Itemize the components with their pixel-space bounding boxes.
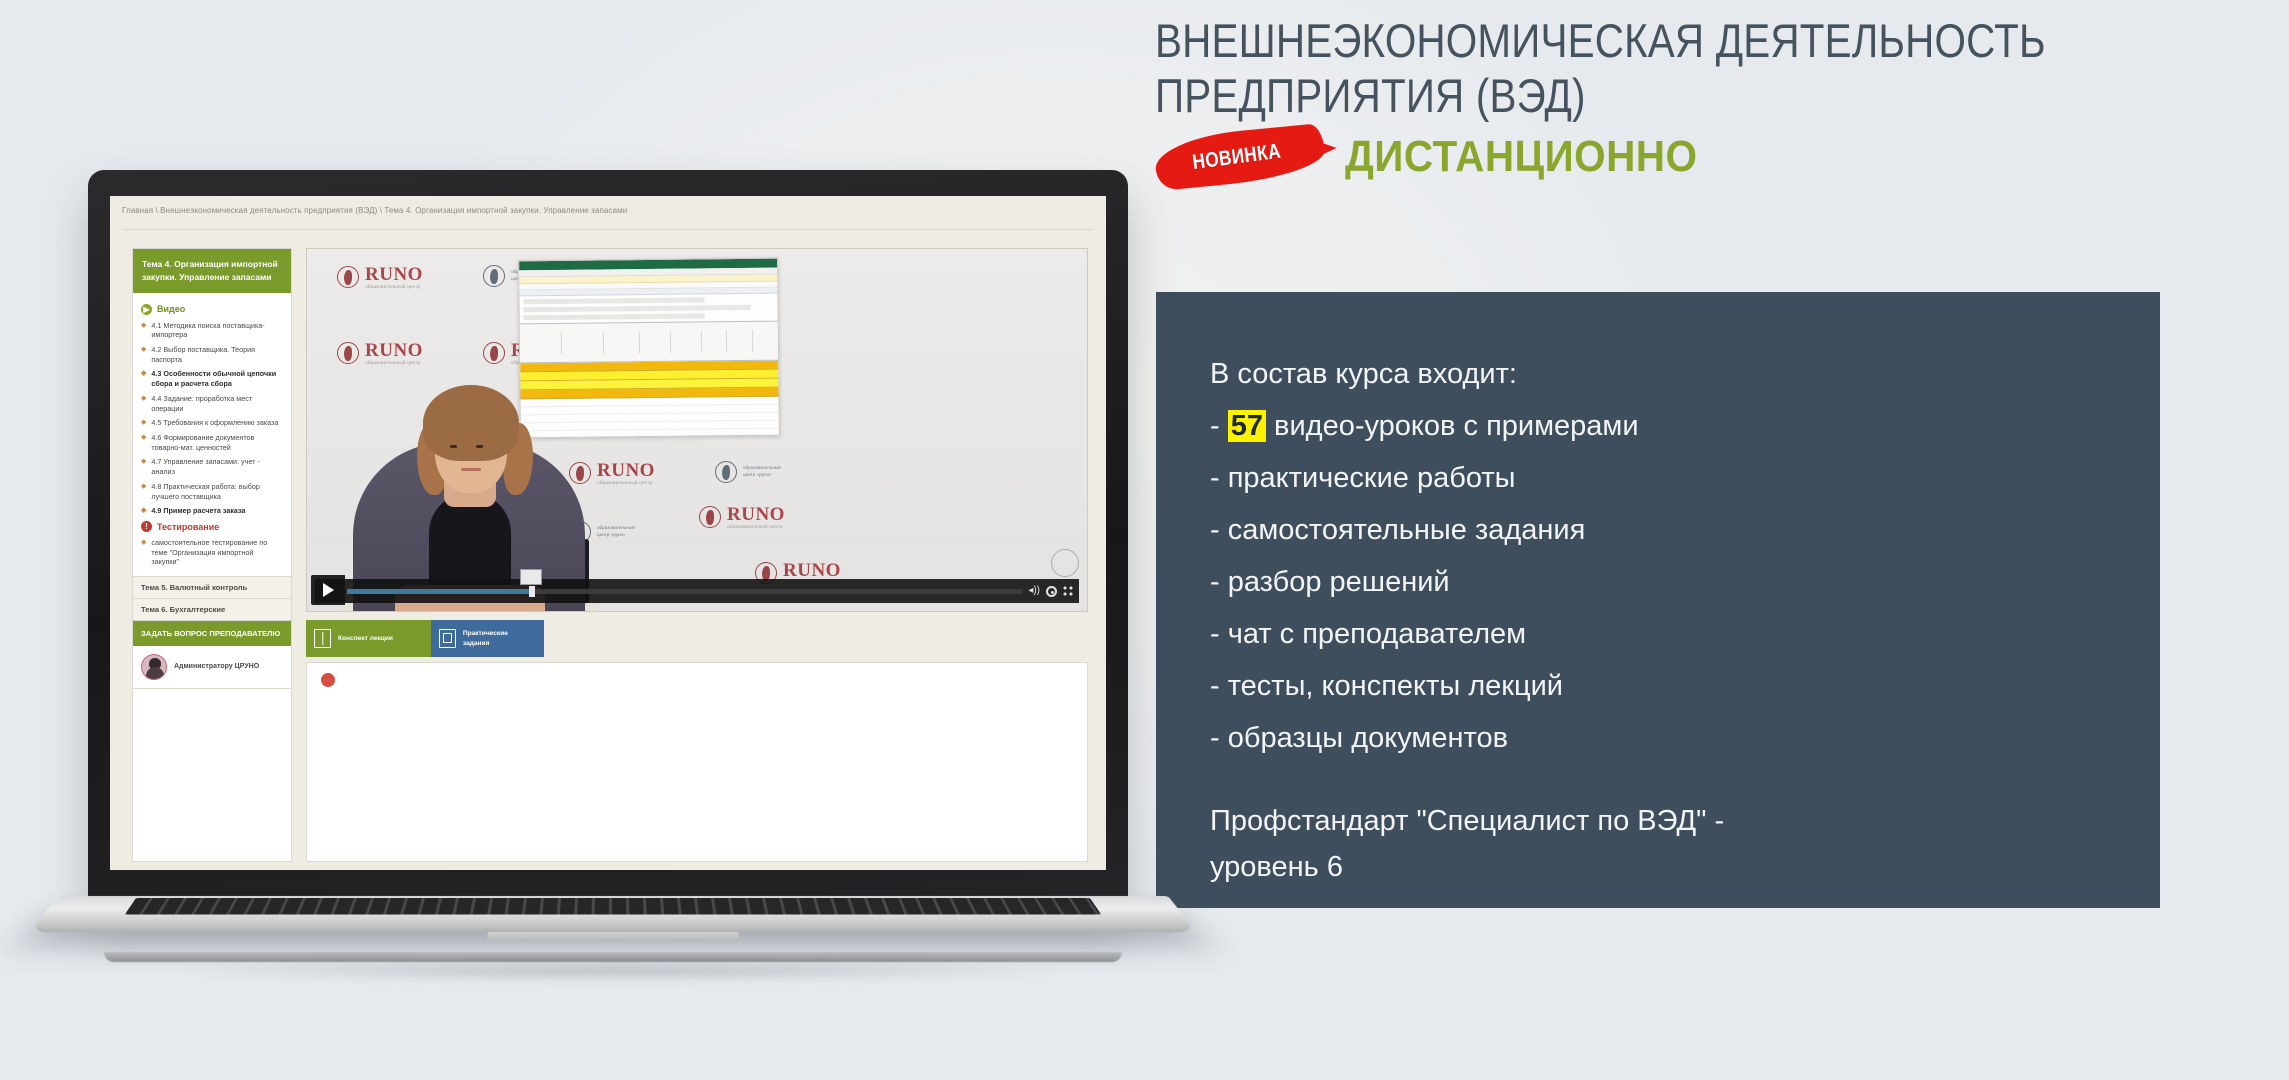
course-contents-panel: В состав курса входит: - 57 видео-уроков… [1156,292,2160,908]
center-wordmark: образовательный центр «руно» [597,525,635,539]
bullet-icon: ◆ [141,457,146,476]
center-line-2: центр «руно» [597,532,626,537]
sidebar-item-lesson[interactable]: ◆4.1 Методика поиска поставщика-импортер… [141,321,283,340]
spreadsheet-note [523,297,704,304]
presenter-hair [423,385,519,461]
alert-circle-icon: ! [141,521,152,532]
bullet-icon: ◆ [141,418,146,428]
player-control-bar[interactable]: ◂)) [315,579,1079,603]
sidebar-section-label: Тестирование [157,522,219,532]
laptop-shadow [168,962,1068,980]
book-icon [314,629,331,648]
laptop-screen: Главная \ Внешнеэкономическая деятельнос… [110,196,1106,870]
item-text: видео-уроков с примерами [1266,410,1639,442]
runo-wordmark: RUNO образовательный центр [727,505,785,530]
runo-emblem-icon [699,506,721,528]
item-dash: - [1210,618,1228,650]
lesson-label: 4.1 Методика поиска поставщика-импортера [151,321,283,340]
bullet-icon: ◆ [141,482,146,501]
item-text: тесты, конспекты лекций [1228,670,1563,702]
center-wordmark: образовательный центр «руно» [743,465,781,479]
item-text: самостоятельные задания [1228,514,1586,546]
lesson-label: 4.4 Задание: проработка мест операции [151,394,283,413]
bullet-icon: ◆ [141,394,146,413]
runo-brand: RUNO [597,460,655,481]
lesson-label: 4.3 Особенности обычной цепочки сбора и … [151,369,283,388]
lesson-label: 4.7 Управление запасами: учет - анализ [151,457,283,476]
lesson-label: 4.9 Пример расчета заказа [151,506,245,516]
bullet-icon: ◆ [141,433,146,452]
laptop-trackpad [487,932,740,939]
lesson-label: 4.5 Требования к оформлению заказа [151,418,278,428]
sidebar-item-lesson[interactable]: ◆4.9 Пример расчета заказа [141,506,283,516]
sidebar-section-video[interactable]: ▶ Видео [141,304,283,315]
delivery-mode-label: ДИСТАНЦИОННО [1345,132,1697,182]
document-icon [439,629,456,648]
tab-lecture-notes[interactable]: Конспект лекции [306,620,431,657]
runo-brand-sub: образовательный центр [727,525,785,530]
runo-wordmark: RUNO образовательный центр [597,461,655,486]
item-dash: - [1210,566,1228,598]
panel-spacer [1210,764,2106,798]
item-dash: - [1210,462,1228,494]
new-badge: НОВИНКА [1153,123,1327,191]
play-circle-icon: ▶ [141,304,152,315]
bullet-icon: ◆ [141,506,146,516]
contents-item: - 57 видео-уроков с примерами [1210,400,2106,452]
progress-bar[interactable] [347,589,1022,594]
ask-teacher-box: ЗАДАТЬ ВОПРОС ПРЕПОДАВАТЕЛЮ Администрато… [132,620,292,689]
contents-heading: В состав курса входит: [1210,348,2106,400]
laptop-base [58,896,1168,974]
pdf-icon[interactable] [321,673,335,687]
presenter-mouth [461,468,481,471]
contents-item: - образцы документов [1210,712,2106,764]
sidebar-body: ▶ Видео ◆4.1 Методика поиска поставщика-… [133,293,291,577]
sidebar-item-lesson[interactable]: ◆4.8 Практическая работа: выбор лучшего … [141,482,283,501]
sidebar-item-lesson[interactable]: ◆4.7 Управление запасами: учет - анализ [141,457,283,476]
badge-brush-tail [1311,139,1337,160]
item-text: образцы документов [1228,722,1508,754]
tab-content-panel [306,662,1088,862]
course-sidebar: Тема 4. Организация импортной закупки. У… [132,248,292,862]
laptop-mockup: Главная \ Внешнеэкономическая деятельнос… [58,170,1168,1000]
promo-subrow: НОВИНКА ДИСТАНЦИОННО [1155,129,2280,185]
bullet-icon: ◆ [141,369,146,388]
item-text: практические работы [1228,462,1516,494]
ask-teacher-body[interactable]: Администратору ЦРУНО [133,646,291,688]
new-badge-label: НОВИНКА [1168,122,1313,192]
presenter-figure [343,321,595,611]
runo-brand: RUNO [727,504,785,525]
breadcrumb: Главная \ Внешнеэкономическая деятельнос… [122,206,1094,230]
spreadsheet-column-headers [519,288,777,297]
sidebar-section-label: Видео [157,304,185,314]
promo-header: ВНЕШНЕЭКОНОМИЧЕСКАЯ ДЕЯТЕЛЬНОСТЬ ПРЕДПРИ… [1155,14,2280,185]
contents-item: - разбор решений [1210,556,2106,608]
play-button[interactable] [311,575,345,605]
tab-label: Конспект лекции [338,634,393,643]
lesson-label: 4.2 Выбор поставщика. Теория паспорта [151,345,283,364]
contents-item: - самостоятельные задания [1210,504,2106,556]
profstandard-note: Профстандарт "Специалист по ВЭД" - урове… [1210,798,2106,890]
page-title: ВНЕШНЕЭКОНОМИЧЕСКАЯ ДЕЯТЕЛЬНОСТЬ ПРЕДПРИ… [1155,14,2123,123]
item-dash: - [1210,670,1228,702]
sidebar-item-lesson[interactable]: ◆4.3 Особенности обычной цепочки сбора и… [141,369,283,388]
content-tabs: Конспект лекции Практические задания [306,620,544,657]
contents-item: - чат с преподавателем [1210,608,2106,660]
sidebar-item-lesson[interactable]: ◆4.6 Формирование документов товарно-мат… [141,433,283,452]
progress-fill [347,589,529,594]
tab-practice-tasks[interactable]: Практические задания [431,620,544,657]
item-dash: - [1210,514,1228,546]
contents-item: - тесты, конспекты лекций [1210,660,2106,712]
volume-icon[interactable]: ◂)) [1028,586,1040,596]
progress-handle[interactable] [529,586,535,597]
sidebar-item-test[interactable]: ◆самостоятельное тестирование по теме "О… [141,538,283,567]
presenter-eye [450,445,457,448]
bullet-icon: ◆ [141,321,146,340]
runo-emblem-icon [337,266,359,288]
bullet-icon: ◆ [141,538,146,567]
center-logo: образовательный центр «руно» [715,461,781,483]
spreadsheet-note [524,313,705,320]
item-text: чат с преподавателем [1228,618,1526,650]
avatar [141,654,167,680]
sidebar-item-lesson[interactable]: ◆4.4 Задание: проработка мест операции [141,394,283,413]
center-emblem-icon [715,461,737,483]
sidebar-item-lesson[interactable]: ◆4.5 Требования к оформлению заказа [141,418,283,428]
sidebar-item-topic5[interactable]: Тема 5. Валютный контроль [133,576,291,598]
laptop-lid: Главная \ Внешнеэкономическая деятельнос… [88,170,1128,904]
lesson-label: 4.8 Практическая работа: выбор лучшего п… [151,482,283,501]
test-label: самостоятельное тестирование по теме "Ор… [151,538,283,567]
video-player[interactable]: RUNO образовательный центр образовательн… [306,248,1088,612]
sidebar-item-topic6[interactable]: Тема 6. Бухгалтерские [133,598,291,620]
sidebar-header: Тема 4. Организация импортной закупки. У… [133,249,291,293]
presenter-eye [476,445,483,448]
spreadsheet-note [524,305,751,312]
runo-brand: RUNO [365,264,423,285]
lesson-label: 4.6 Формирование документов товарно-мат.… [151,433,283,452]
runo-logo: RUNO образовательный центр [699,505,785,530]
center-line-1: образовательный [743,465,781,470]
runo-logo: RUNO образовательный центр [337,265,423,290]
play-icon [323,583,334,597]
contents-item: - практические работы [1210,452,2106,504]
center-emblem-icon [483,265,505,287]
lesson-count: 57 [1228,410,1266,442]
center-line-2: центр «руно» [743,472,772,477]
item-dash: - [1210,410,1228,442]
ask-teacher-header: ЗАДАТЬ ВОПРОС ПРЕПОДАВАТЕЛЮ [133,621,291,646]
laptop-keyboard [125,898,1101,914]
grid-icon[interactable] [1063,586,1073,596]
runo-brand-sub: образовательный центр [597,481,655,486]
sidebar-item-lesson[interactable]: ◆4.2 Выбор поставщика. Теория паспорта [141,345,283,364]
tab-label: Практические задания [463,629,536,647]
sidebar-section-testing[interactable]: ! Тестирование [141,521,283,532]
laptop-front-lip [104,952,1122,962]
item-dash: - [1210,722,1228,754]
decorative-circle-icon [1051,549,1079,577]
center-line-1: образовательный [597,525,635,530]
runo-wordmark: RUNO образовательный центр [365,265,423,290]
bullet-icon: ◆ [141,345,146,364]
runo-brand: RUNO [783,560,841,581]
runo-brand-sub: образовательный центр [365,285,423,290]
preview-thumbnail [520,569,542,585]
item-text: разбор решений [1228,566,1450,598]
gear-icon[interactable] [1046,586,1057,597]
teacher-name: Администратору ЦРУНО [174,662,259,672]
